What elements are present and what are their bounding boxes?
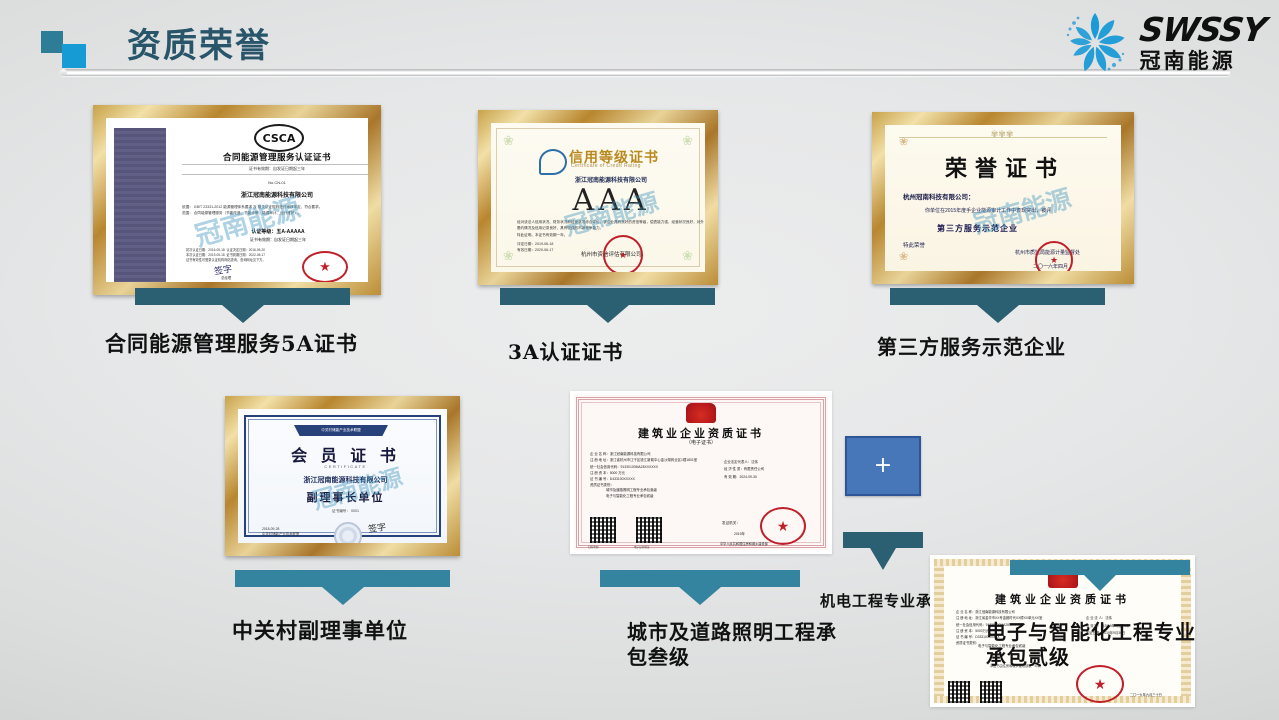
- page-title: 资质荣誉: [127, 18, 271, 67]
- cert4-embossed-seal: [334, 522, 362, 543]
- cert5-fields-left: 企 业 名 称：浙江冠南能源科技有限公司 注 册 地 址：浙江省杭州市江干区钱江…: [590, 451, 718, 489]
- corner-floral-bl-icon: ❀: [899, 250, 908, 263]
- certificate-caption-5: 城市及道路照明工程承包叁级: [627, 620, 837, 670]
- cert1-red-seal: ★: [302, 251, 348, 282]
- cert5-qr-label-2: 电子证书验证: [634, 545, 650, 549]
- cert2-grade: AAA: [511, 183, 705, 218]
- cert2-subtitle-en: Certificate of Credit Rating: [571, 163, 641, 169]
- certificate-caption-4: 中关村副理事单位: [232, 618, 532, 644]
- cert5-red-seal: ★: [760, 507, 806, 545]
- certificate-caption-1: 合同能源管理服务5A证书: [105, 331, 405, 357]
- national-emblem-icon: [686, 403, 716, 423]
- cert2-badge-icon: [539, 149, 567, 175]
- cert6-qr-2-icon: [980, 681, 1002, 703]
- corner-floral-br-icon: ❀: [682, 248, 693, 264]
- arrow-connector-7: [1010, 560, 1190, 575]
- cert4-subtitle-en: CERTIFICATE: [258, 464, 433, 469]
- page-header: 资质荣誉: [0, 0, 1279, 90]
- cert3-body: 你单位在2015年度手企业能源审计工作中表现突出，被评: [925, 207, 1105, 216]
- decor-square-dark: [41, 31, 63, 53]
- cert5-issuer-label: 发证机关：: [722, 521, 740, 526]
- cert3-company: 杭州冠南科技有限公司：: [903, 191, 975, 201]
- arrow-connector-3: [890, 288, 1105, 305]
- certificate-image-3[interactable]: ✾✾✾ ❀ ❀ 荣誉证书 杭州冠南科技有限公司： 你单位在2015年度手企业能源…: [872, 112, 1134, 284]
- cert4-signature: 签字: [367, 520, 387, 535]
- cert5-qr-2-icon: [636, 517, 662, 543]
- logo-text: SWSSY 冠南能源: [1140, 14, 1265, 73]
- cert6-red-seal: ★: [1076, 665, 1124, 703]
- cert3-top-ornament-icon: ✾✾✾: [985, 129, 1019, 141]
- arrow-connector-6: [843, 532, 923, 548]
- certificate-image-1[interactable]: CSCA 合同能源管理服务认证证书 证书有效期：自发证日期起三年 No.CN-0…: [93, 105, 381, 295]
- header-divider: [60, 69, 1230, 76]
- cert6-title: 建筑业企业资质证书: [950, 591, 1175, 607]
- cert5-fields-right: 企业法定代表人：沈伟 经 济 性 质：有限责任公司 有 效 期：2024-09-…: [724, 459, 824, 481]
- cert1-signature-label: 总经理: [221, 275, 231, 280]
- brand-name-en: SWSSY: [1137, 14, 1267, 46]
- cert6-qr-1-icon: [948, 681, 970, 703]
- cert5-qr-1-icon: [590, 517, 616, 543]
- cert4-company: 浙江冠南能源科技有限公司: [258, 475, 433, 485]
- cert3-award: 第三方服务示范企业: [937, 223, 1018, 234]
- company-logo: SWSSY 冠南能源: [1056, 8, 1265, 78]
- cert5-qr-label-1: 扫码查询: [588, 545, 598, 549]
- cert4-title: 会 员 证 书: [258, 442, 433, 466]
- cert1-grade: 认证等级：五A-AAAAA: [182, 228, 368, 235]
- certificate-caption-2: 3A认证证书: [508, 340, 788, 365]
- arrow-connector-1: [135, 288, 350, 305]
- cert4-date: 2018-09-28中关村储能产业技术联盟: [262, 527, 299, 538]
- certificate-caption-3: 第三方服务示范企业: [877, 335, 1177, 360]
- corner-floral-tl-icon: ❀: [899, 135, 908, 148]
- csca-logo-icon: CSCA: [254, 124, 304, 152]
- corner-floral-tl-icon: ❀: [503, 133, 514, 149]
- cert2-red-seal: ★: [603, 235, 643, 272]
- plus-icon: +: [874, 455, 892, 477]
- cert1-smallprint: 初次认证日期：2016-05-18 认证决定日期：2016-05-20 本次认证…: [186, 248, 296, 263]
- cert6-date: 二〇一九年九月三十日: [1130, 692, 1162, 697]
- cert6-border-left: [934, 559, 944, 703]
- cert3-closing: 特此荣誉: [903, 241, 925, 249]
- cert5-issuer: 中华人民共和国住房和城乡建设部: [720, 541, 768, 546]
- arrow-connector-2: [500, 288, 715, 305]
- cert6-border-bottom: [934, 696, 1191, 703]
- cert1-title: 合同能源管理服务认证证书: [181, 151, 368, 163]
- cert4-serial: 证书编号： 0001: [258, 509, 433, 514]
- brand-name-cn: 冠南能源: [1140, 49, 1265, 73]
- cert5-subtitle: （电子证书）: [588, 439, 814, 446]
- cert3-red-seal: ★: [1035, 241, 1073, 271]
- certificate-image-5[interactable]: 建筑业企业资质证书 （电子证书） 企 业 名 称：浙江冠南能源科技有限公司 注 …: [570, 391, 832, 554]
- cert1-side-band: [114, 128, 166, 282]
- cert4-award: 副理事长单位: [258, 489, 433, 505]
- certificate-image-4[interactable]: 中关村储能产业技术联盟 会 员 证 书 CERTIFICATE 浙江冠南能源科技…: [225, 396, 460, 556]
- cert1-company: 浙江冠南能源科技有限公司: [182, 190, 368, 199]
- add-certificate-button[interactable]: +: [845, 436, 921, 496]
- certificate-image-2[interactable]: ❀ ❀ ❀ ❀ 信用等级证书 Certificate of Credit Rat…: [478, 110, 718, 285]
- certificate-caption-6: 电子与智能化工程专业承包贰级: [986, 620, 1216, 670]
- corner-floral-bl-icon: ❀: [503, 248, 514, 264]
- decor-square-light: [62, 44, 86, 68]
- cert4-ribbon: 中关村储能产业技术联盟: [294, 425, 388, 436]
- cert5-date: 2019年: [734, 531, 745, 536]
- corner-floral-tr-icon: ❀: [682, 133, 693, 149]
- cert1-body: 依据： GB/T 23331-2012 能源管理体系要求 及 相关认证规则进行审…: [182, 204, 368, 216]
- cert1-certno: No.CN-01: [182, 180, 368, 185]
- cert2-meta: 评定日期：2019-06-18有效日期：2020-06-17: [517, 241, 553, 254]
- cert5-body: 城市及道路照明工程专业承包叁级 电子与智能化工程专业承包贰级: [606, 487, 766, 500]
- arrow-connector-5: [600, 570, 800, 587]
- cert2-body: 经对该法人信用状况、财务状况和经营状况综合评价，该企业具有良好的资信等级，偿债能…: [517, 219, 705, 238]
- water-droplet-radial-logo-icon: [1056, 8, 1134, 78]
- cert1-validity: 证书有效期：自发证日期起三年: [182, 237, 368, 243]
- arrow-connector-4: [235, 570, 450, 587]
- cert1-subline: 证书有效期：自发证日期起三年: [182, 166, 368, 172]
- cert3-title: 荣誉证书: [905, 151, 1105, 183]
